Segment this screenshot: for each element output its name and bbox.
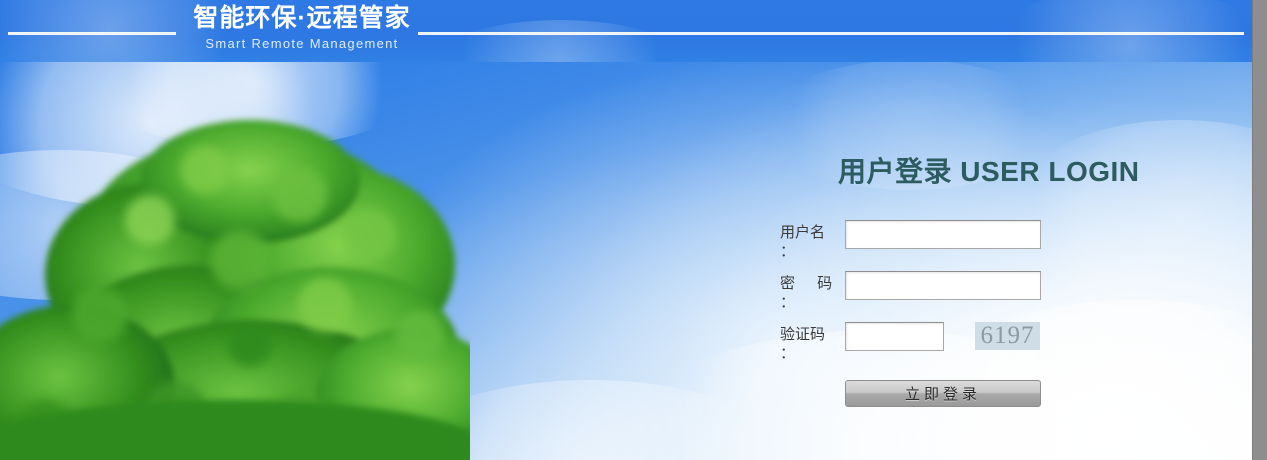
captcha-row: 验证码 ： 6197 xyxy=(780,322,1160,363)
login-panel: 用户登录 USER LOGIN 用户名 ： 密 码 ： 验证码 ： 6197 xyxy=(780,150,1160,407)
username-label: 用户名 ： xyxy=(780,220,845,261)
tree-image xyxy=(0,100,470,460)
captcha-label-colon: ： xyxy=(780,344,845,363)
password-row: 密 码 ： xyxy=(780,271,1160,312)
header-cloud-decoration xyxy=(980,0,1252,62)
vertical-scrollbar[interactable] xyxy=(1252,0,1267,460)
username-label-text: 用户名 xyxy=(780,224,825,241)
login-heading-text: 用户登录 USER LOGIN xyxy=(838,150,1140,190)
brand-logo: 智能环保·远程管家 Smart Remote Management xyxy=(186,6,418,50)
captcha-image[interactable]: 6197 xyxy=(975,322,1040,350)
submit-row: 立即登录 xyxy=(780,380,1160,407)
username-row: 用户名 ： xyxy=(780,220,1160,261)
password-input[interactable] xyxy=(845,271,1041,300)
header-rule-left xyxy=(8,32,176,35)
login-button[interactable]: 立即登录 xyxy=(845,380,1041,407)
username-label-colon: ： xyxy=(780,242,845,261)
page-header: 智能环保·远程管家 Smart Remote Management xyxy=(0,0,1252,62)
equals-icon xyxy=(780,159,823,182)
brand-title-cn: 智能环保·远程管家 xyxy=(186,6,418,31)
header-rule-right xyxy=(418,32,1244,35)
captcha-input[interactable] xyxy=(845,322,944,351)
captcha-label: 验证码 ： xyxy=(780,322,845,363)
password-label: 密 码 ： xyxy=(780,271,845,312)
captcha-label-text: 验证码 xyxy=(780,326,825,343)
login-page: 智能环保·远程管家 Smart Remote Management 用户登录 U… xyxy=(0,0,1267,460)
username-input[interactable] xyxy=(845,220,1041,249)
login-heading: 用户登录 USER LOGIN xyxy=(780,150,1160,190)
password-label-text: 密 码 xyxy=(780,275,841,292)
header-cloud-decoration xyxy=(430,20,690,62)
password-label-colon: ： xyxy=(780,293,845,312)
brand-title-en: Smart Remote Management xyxy=(186,37,418,50)
